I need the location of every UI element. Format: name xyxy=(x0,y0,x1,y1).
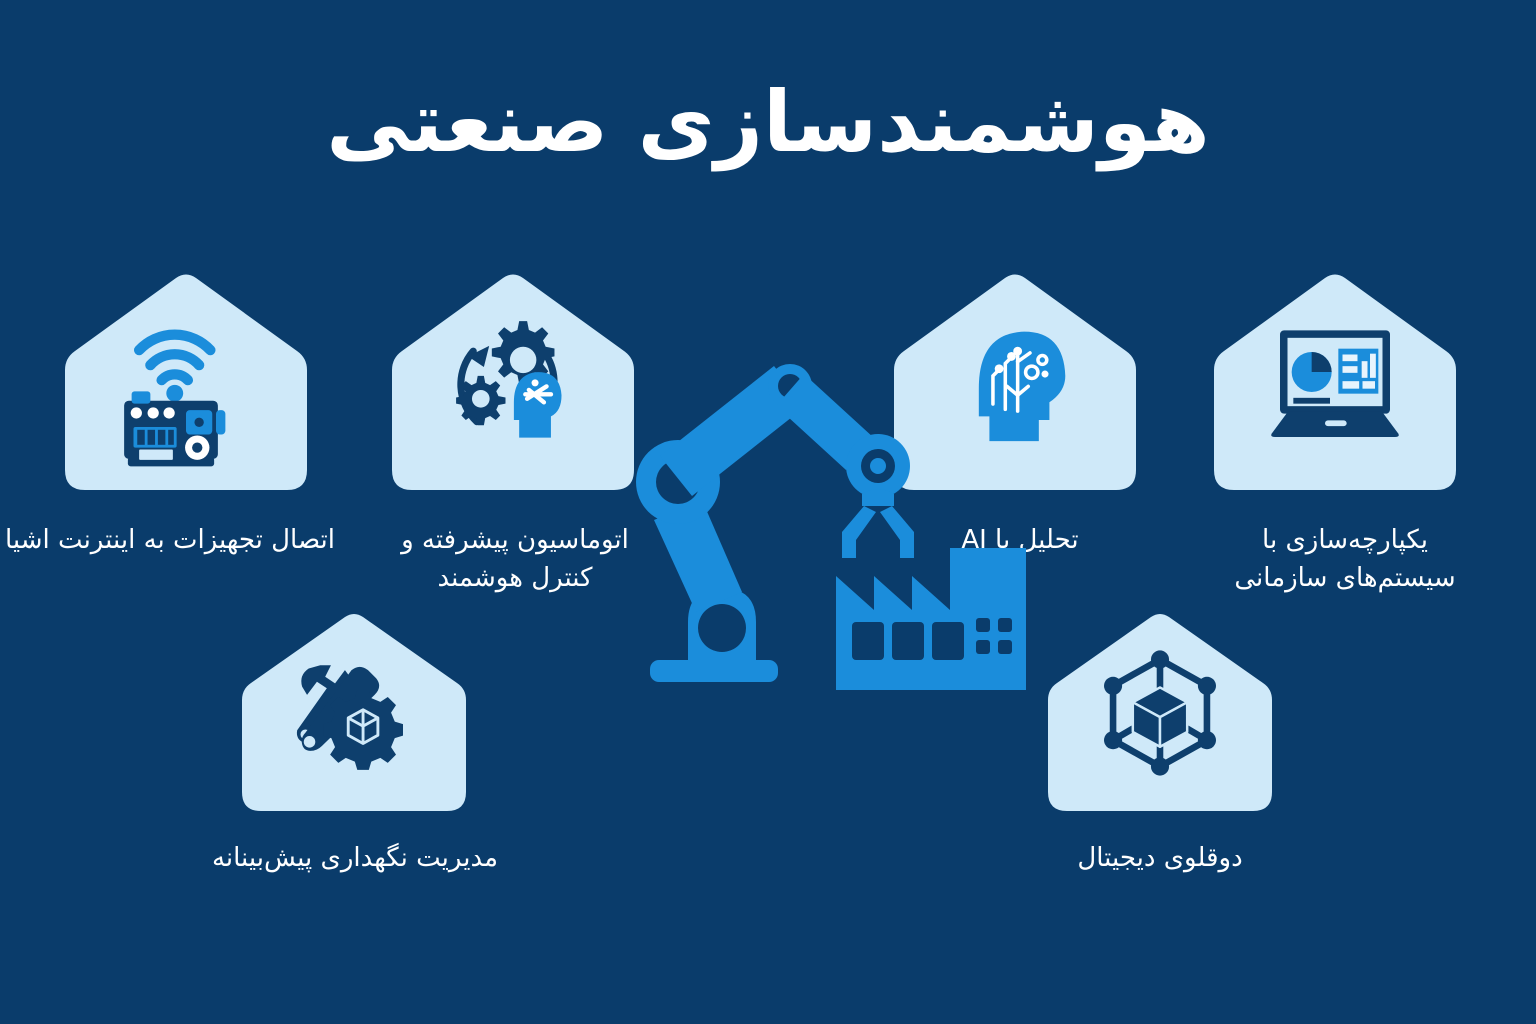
wrench-screwdriver-gear-icon xyxy=(228,600,480,825)
infographic-canvas: هوشمندسازی صنعتی xyxy=(0,0,1536,1024)
center-illustration xyxy=(630,360,1050,700)
hexagon-network-cube-icon xyxy=(1034,600,1286,825)
card-maintenance[interactable] xyxy=(228,600,480,825)
page-title: هوشمندسازی صنعتی xyxy=(0,76,1536,168)
caption-automation: اتوماسیون پیشرفته و کنترل هوشمند xyxy=(375,522,655,597)
card-digital-twin[interactable] xyxy=(1034,600,1286,825)
caption-maintenance: مدیریت نگهداری پیش‌بینانه xyxy=(190,840,520,878)
card-iot[interactable] xyxy=(47,258,325,506)
card-automation[interactable] xyxy=(374,258,652,506)
iot-machine-wifi-icon xyxy=(47,258,325,506)
card-erp[interactable] xyxy=(1196,258,1474,506)
factory-building-icon xyxy=(836,548,1026,690)
caption-erp: یکپارچه‌سازی با سیستم‌های سازمانی xyxy=(1200,522,1490,597)
gears-cycle-head-icon xyxy=(374,258,652,506)
caption-iot: اتصال تجهیزات به اینترنت اشیا xyxy=(0,522,350,560)
laptop-dashboard-icon xyxy=(1196,258,1474,506)
caption-digital-twin: دوقلوی دیجیتال xyxy=(1030,840,1290,878)
